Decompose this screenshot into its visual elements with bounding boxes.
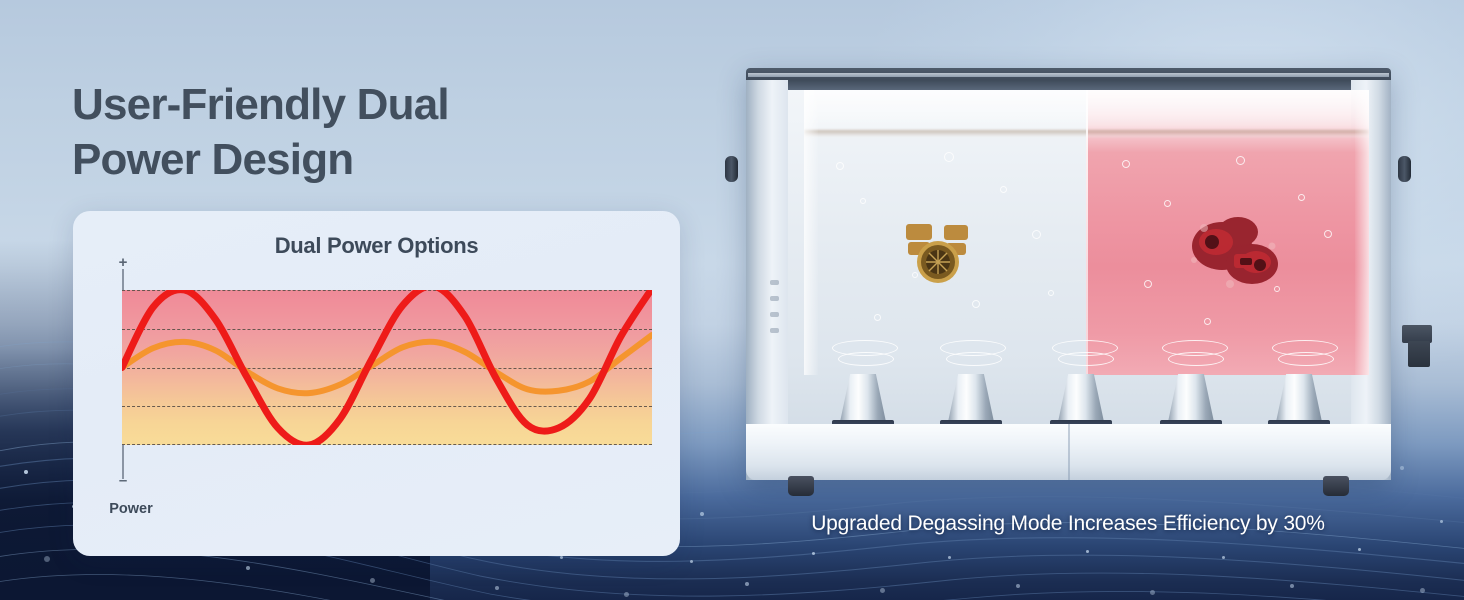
tank-glass-highlight-left bbox=[804, 90, 818, 375]
machine-foot-left bbox=[788, 476, 814, 496]
page-title: User-Friendly Dual Power Design bbox=[72, 78, 592, 187]
headline-line-1: User-Friendly Dual bbox=[72, 80, 449, 129]
powerful-mode-curve bbox=[122, 290, 652, 445]
machine-left-wall bbox=[746, 80, 788, 480]
machine-shell bbox=[746, 68, 1391, 480]
tank-glass-highlight-right bbox=[1355, 90, 1369, 375]
waveform-plot bbox=[122, 290, 652, 445]
machine-top-lip bbox=[748, 73, 1389, 77]
dual-power-chart-card: Dual Power Options + – Power bbox=[73, 211, 680, 556]
cleaner-tank bbox=[804, 90, 1369, 375]
machine-top-rim bbox=[746, 68, 1391, 90]
tank-split-divider bbox=[1086, 90, 1088, 375]
gentle-mode-curve bbox=[122, 335, 652, 393]
axis-minus-marker: – bbox=[116, 473, 130, 488]
machine-foot-right bbox=[1323, 476, 1349, 496]
ultrasonic-cleaner-image bbox=[728, 60, 1408, 490]
headline-line-2: Power Design bbox=[72, 133, 592, 188]
machine-base-seam bbox=[1068, 424, 1070, 480]
drain-valve bbox=[1402, 325, 1436, 371]
chart-plot-area: + – Power bbox=[73, 211, 680, 556]
side-handle-right bbox=[1398, 156, 1411, 182]
wristwatch-object bbox=[892, 212, 988, 292]
bottom-caption: Upgraded Degassing Mode Increases Effici… bbox=[728, 512, 1408, 536]
side-handle-left bbox=[725, 156, 738, 182]
axis-plus-marker: + bbox=[116, 255, 130, 270]
banner-stage: User-Friendly Dual Power Design Dual Pow… bbox=[0, 0, 1464, 600]
y-axis-label: Power bbox=[101, 501, 161, 517]
